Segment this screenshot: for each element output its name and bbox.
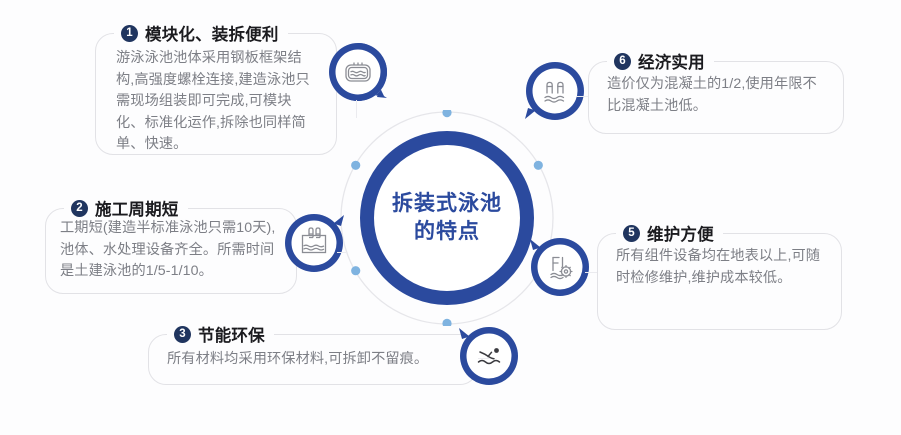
connector-2 (337, 252, 347, 253)
feature-card-5-title-text: 维护方便 (647, 221, 714, 245)
center-label: 拆装式泳池 的特点 (392, 190, 502, 246)
pin-1[interactable] (327, 41, 389, 103)
feature-card-5-title: 5 维护方便 (616, 221, 723, 245)
connector-5 (585, 272, 597, 273)
feature-card-1-body: 游泳泳池池体采用钢板框架结构,高强度螺栓连接,建造泳池只需现场组装即可完成,可模… (116, 48, 320, 156)
feature-card-2-title-text: 施工周期短 (95, 196, 179, 220)
feature-card-1-title: 1 模块化、装拆便利 (114, 21, 288, 45)
feature-card-6-title-text: 经济实用 (638, 49, 705, 73)
feature-card-3-title: 3 节能环保 (167, 322, 274, 346)
feature-card-2-number: 2 (71, 200, 88, 217)
pin-2[interactable] (283, 212, 345, 274)
feature-card-5-number: 5 (623, 225, 640, 242)
feature-card-1-title-text: 模块化、装拆便利 (145, 21, 279, 45)
infographic-canvas: 拆装式泳池 的特点 1 模块化、装拆便利 游泳泳池池体采用钢板框架结构,高强度螺… (0, 0, 901, 435)
feature-card-2-body: 工期短(建造半标准泳池只需10天),池体、水处理设备齐全。所需时间是土建泳池的1… (60, 218, 286, 283)
feature-card-3-body: 所有材料均采用环保材料,可拆卸不留痕。 (167, 349, 463, 371)
feature-card-1-number: 1 (121, 25, 138, 42)
feature-card-1[interactable]: 1 模块化、装拆便利 游泳泳池池体采用钢板框架结构,高强度螺栓连接,建造泳池只需… (95, 33, 337, 155)
feature-card-6-body: 造价仅为混凝土的1/2,使用年限不比混凝土池低。 (607, 74, 831, 117)
center-label-line2: 的特点 (414, 220, 480, 243)
feature-card-3[interactable]: 3 节能环保 所有材料均采用环保材料,可拆卸不留痕。 (148, 334, 478, 385)
center-circle: 拆装式泳池 的特点 (360, 131, 534, 305)
feature-card-6-number: 6 (614, 53, 631, 70)
connector-6 (576, 96, 588, 97)
feature-card-2-title: 2 施工周期短 (64, 196, 188, 220)
center-hub: 拆装式泳池 的特点 (339, 110, 555, 326)
feature-card-6-title: 6 经济实用 (607, 49, 714, 73)
pin-3[interactable] (458, 325, 520, 387)
feature-card-2[interactable]: 2 施工周期短 工期短(建造半标准泳池只需10天),池体、水处理设备齐全。所需时… (45, 208, 297, 294)
pin-5[interactable] (529, 236, 591, 298)
feature-card-3-number: 3 (174, 326, 191, 343)
pin-6[interactable] (524, 60, 586, 122)
center-label-line1: 拆装式泳池 (392, 192, 502, 215)
connector-3 (478, 358, 490, 359)
feature-card-3-title-text: 节能环保 (198, 322, 265, 346)
feature-card-5[interactable]: 5 维护方便 所有组件设备均在地表以上,可随时检修维护,维护成本较低。 (597, 233, 842, 330)
connector-1 (356, 100, 357, 118)
feature-card-5-body: 所有组件设备均在地表以上,可随时检修维护,维护成本较低。 (616, 246, 827, 289)
feature-card-6[interactable]: 6 经济实用 造价仅为混凝土的1/2,使用年限不比混凝土池低。 (588, 61, 844, 134)
